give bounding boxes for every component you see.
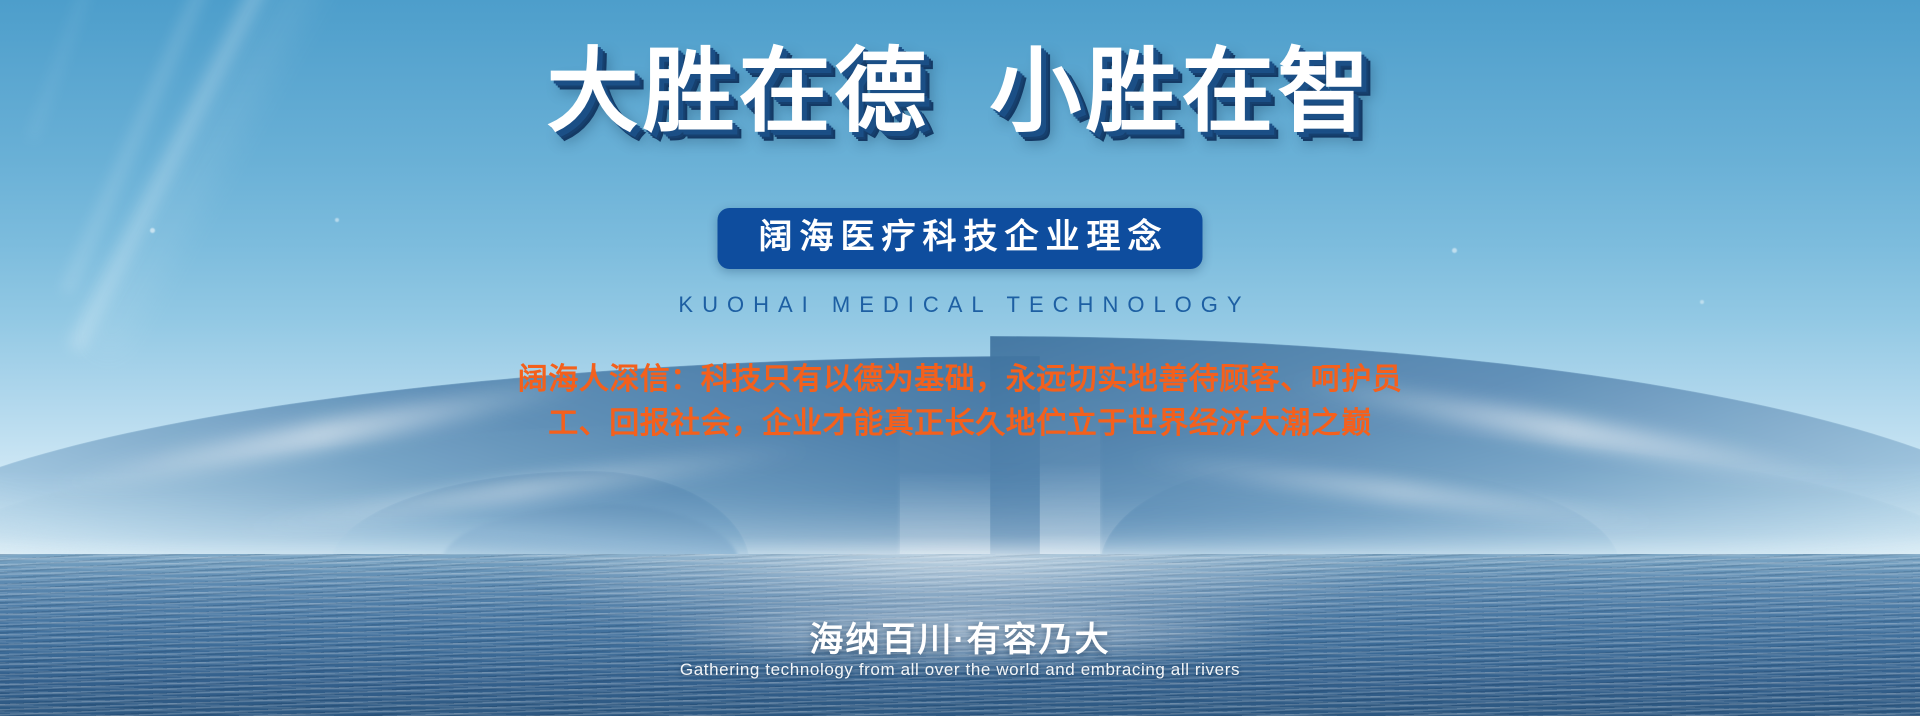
philosophy-statement-line-2: 工、回报社会，企业才能真正长久地伫立于世界经济大潮之巅 [440,402,1480,446]
philosophy-badge-english: KUOHAI MEDICAL TECHNOLOGY [0,292,1920,318]
footer-slogan-chinese: 海纳百川·有容乃大 [0,612,1920,661]
kuohai-culture-banner: 大胜在德 小胜在智 阔海医疗科技企业理念 KUOHAI MEDICAL TECH… [0,0,1920,716]
philosophy-badge-label: 阔海医疗科技企业理念 [759,218,1169,256]
footer-slogan-english: Gathering technology from all over the w… [0,660,1920,680]
page-title: 大胜在德 小胜在智 [0,44,1920,141]
philosophy-statement-line-1: 阔海人深信：科技只有以德为基础，永远切实地善待顾客、呵护员 [440,358,1480,402]
banner-content: 大胜在德 小胜在智 阔海医疗科技企业理念 KUOHAI MEDICAL TECH… [0,0,1920,716]
philosophy-badge: 阔海医疗科技企业理念 [718,208,1203,269]
philosophy-statement: 阔海人深信：科技只有以德为基础，永远切实地善待顾客、呵护员 工、回报社会，企业才… [440,358,1480,445]
